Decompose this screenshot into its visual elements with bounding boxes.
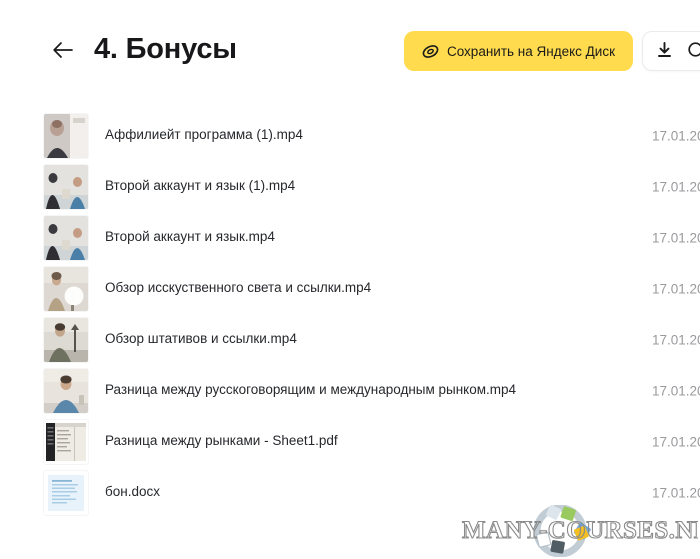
file-name: Разница между русскоговорящим и междунар… [105,382,516,398]
table-row[interactable]: Разница между рынками - Sheet1.pdf 17.01… [0,416,700,467]
file-date: 17.01.20 [652,179,700,194]
table-row[interactable]: бон.docx 17.01.20 [0,467,700,518]
file-name: Разница между рынками - Sheet1.pdf [105,433,338,449]
link-button[interactable] [687,43,700,60]
page-header: 4. Бонусы Сохранить на Яндекс Диск [0,0,700,100]
table-row[interactable]: Второй аккаунт и язык.mp4 17.01.20 [0,212,700,263]
table-row[interactable]: Обзор штативов и ссылки.mp4 17.01.20 [0,314,700,365]
file-thumbnail [44,114,88,158]
file-thumbnail [44,471,88,515]
link-icon [688,42,700,60]
file-date: 17.01.20 [652,128,700,143]
file-name: Аффилиейт программа (1).mp4 [105,127,303,143]
file-thumbnail [44,420,88,464]
file-date: 17.01.20 [652,281,700,296]
file-date: 17.01.20 [652,332,700,347]
arrow-left-icon [52,41,74,59]
save-button-label: Сохранить на Яндекс Диск [447,44,615,59]
file-thumbnail [44,216,88,260]
yandex-disk-folder-page: 4. Бонусы Сохранить на Яндекс Диск [0,0,700,559]
watermark-text: MANY-COURSES.NET [462,517,698,544]
download-button[interactable] [656,43,673,60]
table-row[interactable]: Второй аккаунт и язык (1).mp4 17.01.20 [0,161,700,212]
secondary-actions-group [642,31,700,71]
file-thumbnail [44,318,88,362]
table-row[interactable]: Аффилиейт программа (1).mp4 17.01.20 [0,110,700,161]
file-thumbnail [44,267,88,311]
table-row[interactable]: Разница между русскоговорящим и междунар… [0,365,700,416]
save-to-yandex-disk-button[interactable]: Сохранить на Яндекс Диск [404,31,633,71]
file-thumbnail [44,369,88,413]
page-title: 4. Бонусы [94,35,237,66]
yandex-disk-icon [422,43,439,60]
download-icon [657,42,672,61]
file-thumbnail [44,165,88,209]
back-button[interactable] [46,33,80,67]
table-row[interactable]: Обзор исскуственного света и ссылки.mp4 … [0,263,700,314]
file-name: Второй аккаунт и язык.mp4 [105,229,275,245]
file-date: 17.01.20 [652,383,700,398]
file-date: 17.01.20 [652,434,700,449]
file-name: Обзор штативов и ссылки.mp4 [105,331,297,347]
file-name: Второй аккаунт и язык (1).mp4 [105,178,295,194]
file-name: Обзор исскуственного света и ссылки.mp4 [105,280,371,296]
file-name: бон.docx [105,484,160,500]
header-actions: Сохранить на Яндекс Диск [404,31,700,71]
file-list: Аффилиейт программа (1).mp4 17.01.20 Вто… [0,110,700,518]
file-date: 17.01.20 [652,230,700,245]
file-date: 17.01.20 [652,485,700,500]
